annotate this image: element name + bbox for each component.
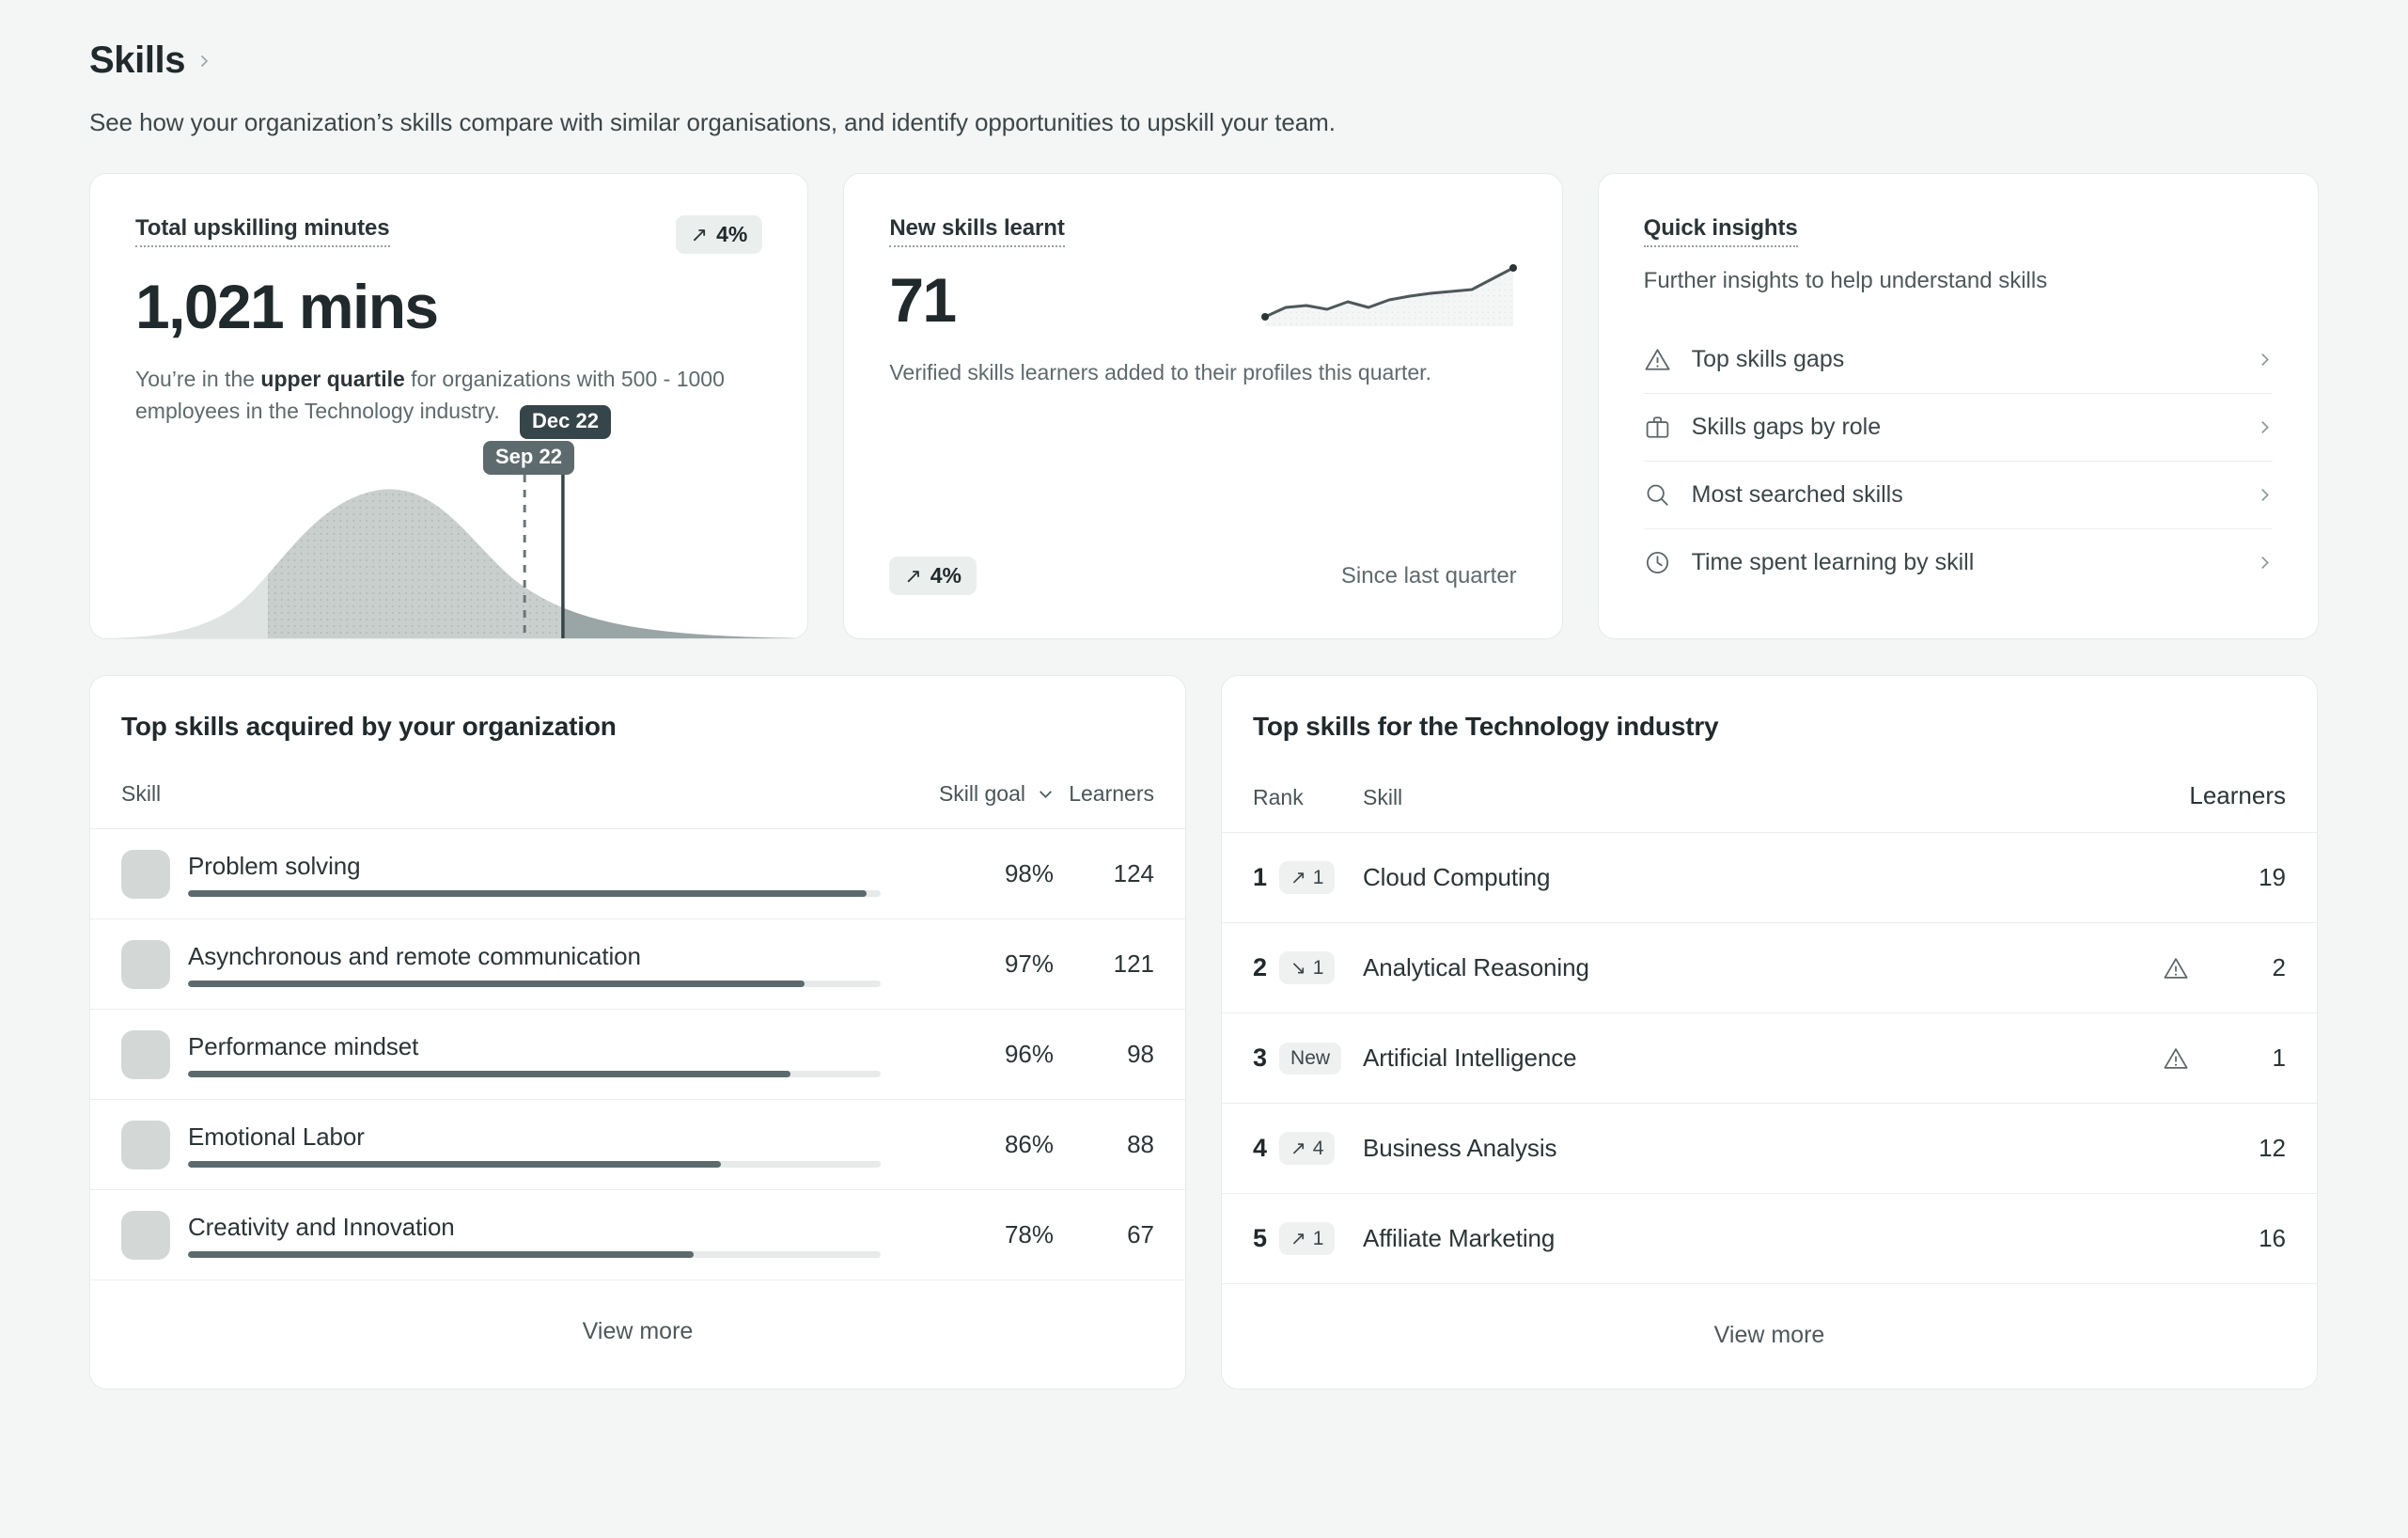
arrow-up-right-icon: ↗ — [1290, 1227, 1306, 1250]
upskilling-label: Total upskilling minutes — [135, 215, 390, 247]
new-skills-footer: ↗ 4% Since last quarter — [889, 557, 1516, 595]
skill-goal-value: 78% — [913, 1190, 1054, 1280]
rank-change-value: 1 — [1313, 957, 1324, 980]
column-header-learners: Learners — [1054, 742, 1185, 829]
industry-learners-value: 2 — [2189, 923, 2317, 1013]
chevron-right-icon — [196, 54, 211, 69]
tables-row: Top skills acquired by your organization… — [89, 675, 2319, 1389]
table-row[interactable]: Performance mindset 96% 98 — [90, 1010, 1185, 1100]
total-upskilling-minutes-card: Total upskilling minutes ↗ 4% 1,021 mins… — [89, 173, 808, 639]
rank-change-badge: ↗ 4 — [1279, 1132, 1335, 1165]
industry-learners-value: 12 — [2189, 1104, 2317, 1194]
industry-skill-name: Artificial Intelligence — [1363, 1013, 2104, 1104]
warning-cell — [2104, 1104, 2189, 1194]
skill-learners-value: 88 — [1054, 1100, 1185, 1190]
skill-goal-value: 96% — [913, 1010, 1054, 1100]
panel-title: Top skills for the Technology industry — [1222, 676, 2317, 742]
warning-cell — [2104, 923, 2189, 1013]
view-more-button-right[interactable]: View more — [1222, 1284, 2317, 1389]
top-skills-industry-body: 1 ↗ 1 Cloud Computing 19 — [1222, 833, 2317, 1284]
skill-progress-bar — [188, 890, 881, 897]
chevron-right-icon — [2257, 419, 2273, 435]
column-header-warning-spacer — [2104, 742, 2189, 833]
rank-change-badge: ↘ 1 — [1279, 951, 1335, 984]
upskilling-change-value: 4% — [716, 222, 747, 247]
industry-skill-name: Business Analysis — [1363, 1104, 2104, 1194]
warning-triangle-icon — [1644, 346, 1671, 373]
quick-insights-subtitle: Further insights to help understand skil… — [1644, 268, 2273, 294]
new-skills-learnt-card: New skills learnt 71 Verified skills lea… — [843, 173, 1562, 639]
skill-goal-value: 98% — [913, 829, 1054, 919]
skill-avatar — [121, 1211, 170, 1260]
skill-goal-value: 86% — [913, 1100, 1054, 1190]
industry-skill-name: Affiliate Marketing — [1363, 1194, 2104, 1284]
skill-name: Creativity and Innovation — [188, 1213, 881, 1251]
quick-insight-label: Time spent learning by skill — [1692, 549, 2236, 576]
upskilling-value: 1,021 mins — [135, 275, 762, 339]
chevron-right-icon — [2257, 555, 2273, 571]
briefcase-icon — [1644, 414, 1671, 441]
search-icon — [1644, 481, 1671, 509]
new-skills-description: Verified skills learners added to their … — [889, 357, 1500, 388]
table-row[interactable]: 1 ↗ 1 Cloud Computing 19 — [1222, 833, 2317, 923]
new-skills-change-value: 4% — [930, 563, 962, 589]
skill-learners-value: 98 — [1054, 1010, 1185, 1100]
chevron-right-icon — [2257, 352, 2273, 368]
top-skills-acquired-table: Skill Skill goal Learners — [90, 742, 1185, 1280]
quick-insight-item-skills-gaps-by-role[interactable]: Skills gaps by role — [1644, 394, 2273, 462]
kpi-cards-row: Total upskilling minutes ↗ 4% 1,021 mins… — [89, 173, 2319, 639]
upskilling-change-badge: ↗ 4% — [676, 215, 763, 254]
table-row[interactable]: Creativity and Innovation 78% 67 — [90, 1190, 1185, 1280]
column-header-spacer — [188, 742, 913, 829]
warning-cell — [2104, 1194, 2189, 1284]
desc-before: You’re in the — [135, 367, 260, 391]
table-row[interactable]: 4 ↗ 4 Business Analysis 12 — [1222, 1104, 2317, 1194]
skill-progress-bar — [188, 1071, 881, 1077]
page-subtitle: See how your organization’s skills compa… — [89, 108, 2319, 137]
desc-bold: upper quartile — [260, 367, 404, 391]
arrow-up-right-icon: ↗ — [1290, 1137, 1306, 1160]
skill-learners-value: 124 — [1054, 829, 1185, 919]
industry-skill-name: Analytical Reasoning — [1363, 923, 2104, 1013]
marker-sep-22: Sep 22 — [483, 441, 574, 475]
column-header-skill-goal[interactable]: Skill goal — [913, 742, 1054, 829]
new-skills-sparkline — [1261, 260, 1517, 330]
skill-progress-bar — [188, 1161, 881, 1168]
skill-avatar — [121, 1121, 170, 1169]
marker-dec-22: Dec 22 — [520, 405, 611, 439]
skill-avatar — [121, 940, 170, 989]
top-skills-acquired-body: Problem solving 98% 124 Asynchronous and… — [90, 829, 1185, 1280]
column-header-rank: Rank — [1222, 742, 1363, 833]
quick-insight-item-top-skills-gaps[interactable]: Top skills gaps — [1644, 326, 2273, 394]
chevron-down-icon — [1038, 786, 1054, 802]
table-row[interactable]: Problem solving 98% 124 — [90, 829, 1185, 919]
rank-change-value: 1 — [1313, 867, 1324, 889]
panel-title: Top skills acquired by your organization — [90, 676, 1185, 742]
breadcrumb[interactable]: Skills — [89, 39, 2319, 82]
quick-insight-label: Top skills gaps — [1692, 346, 2236, 373]
warning-triangle-icon — [2163, 955, 2189, 981]
skill-progress-bar — [188, 981, 881, 987]
column-header-skill-goal-label: Skill goal — [939, 781, 1025, 807]
arrow-up-right-icon: ↗ — [691, 223, 708, 247]
rank-number: 4 — [1253, 1134, 1267, 1163]
rank-new-badge: New — [1279, 1043, 1341, 1075]
skill-name: Emotional Labor — [188, 1122, 881, 1161]
skill-name: Performance mindset — [188, 1032, 881, 1071]
rank-number: 2 — [1253, 953, 1267, 982]
table-row[interactable]: 3 New Artificial Intelligence — [1222, 1013, 2317, 1104]
skill-learners-value: 121 — [1054, 919, 1185, 1010]
skills-dashboard: Skills See how your organization’s skill… — [0, 0, 2408, 1389]
chevron-right-icon — [2257, 487, 2273, 503]
column-header-learners: Learners — [2189, 742, 2317, 833]
table-header-row: Rank Skill Learners — [1222, 742, 2317, 833]
quick-insights-list: Top skills gaps Skills gaps by role — [1644, 326, 2273, 596]
table-row[interactable]: 5 ↗ 1 Affiliate Marketing 16 — [1222, 1194, 2317, 1284]
new-skills-footnote: Since last quarter — [1341, 563, 1517, 589]
skill-learners-value: 67 — [1054, 1190, 1185, 1280]
rank-change-badge: ↗ 1 — [1279, 861, 1335, 894]
top-skills-industry-table: Rank Skill Learners 1 ↗ 1 — [1222, 742, 2317, 1284]
top-skills-industry-panel: Top skills for the Technology industry R… — [1221, 675, 2318, 1389]
top-skills-acquired-panel: Top skills acquired by your organization… — [89, 675, 1186, 1389]
new-skills-change-badge: ↗ 4% — [889, 557, 977, 595]
warning-cell — [2104, 1013, 2189, 1104]
quick-insight-item-time-spent-learning[interactable]: Time spent learning by skill — [1644, 529, 2273, 596]
quick-insight-label: Most searched skills — [1692, 481, 2236, 509]
rank-change-value: 4 — [1313, 1138, 1324, 1160]
page-title: Skills — [89, 39, 185, 82]
arrow-down-right-icon: ↘ — [1290, 956, 1306, 980]
rank-change-value: 1 — [1313, 1228, 1324, 1250]
table-row[interactable]: 2 ↘ 1 Analytical Reasoning — [1222, 923, 2317, 1013]
table-row[interactable]: Emotional Labor 86% 88 — [90, 1100, 1185, 1190]
warning-triangle-icon — [2163, 1045, 2189, 1072]
quick-insights-label: Quick insights — [1644, 215, 1798, 247]
rank-change-badge: ↗ 1 — [1279, 1222, 1335, 1255]
column-header-skill: Skill — [1363, 742, 2104, 833]
quick-insight-item-most-searched-skills[interactable]: Most searched skills — [1644, 462, 2273, 529]
industry-learners-value: 1 — [2189, 1013, 2317, 1104]
quick-insights-card: Quick insights Further insights to help … — [1598, 173, 2319, 639]
arrow-up-right-icon: ↗ — [1290, 866, 1306, 889]
industry-skill-name: Cloud Computing — [1363, 833, 2104, 923]
skill-avatar — [121, 1030, 170, 1079]
skill-progress-bar — [188, 1251, 881, 1258]
arrow-up-right-icon: ↗ — [904, 564, 921, 589]
industry-learners-value: 19 — [2189, 833, 2317, 923]
rank-change-value: New — [1290, 1047, 1330, 1070]
clock-icon — [1644, 549, 1671, 576]
skill-name: Asynchronous and remote communication — [188, 942, 881, 981]
industry-learners-value: 16 — [2189, 1194, 2317, 1284]
column-header-skill: Skill — [90, 742, 188, 829]
rank-number: 5 — [1253, 1224, 1267, 1253]
distribution-chart: Dec 22 Sep 22 — [90, 460, 807, 638]
skill-avatar — [121, 850, 170, 899]
rank-number: 1 — [1253, 863, 1267, 892]
table-row[interactable]: Asynchronous and remote communication 97… — [90, 919, 1185, 1010]
skill-goal-value: 97% — [913, 919, 1054, 1010]
skill-name: Problem solving — [188, 852, 881, 890]
warning-cell — [2104, 833, 2189, 923]
rank-number: 3 — [1253, 1044, 1267, 1073]
table-header-row: Skill Skill goal Learners — [90, 742, 1185, 829]
view-more-button-left[interactable]: View more — [90, 1280, 1185, 1385]
new-skills-label: New skills learnt — [889, 215, 1064, 247]
upskilling-description: You’re in the upper quartile for organiz… — [135, 364, 746, 427]
quick-insight-label: Skills gaps by role — [1692, 414, 2236, 441]
